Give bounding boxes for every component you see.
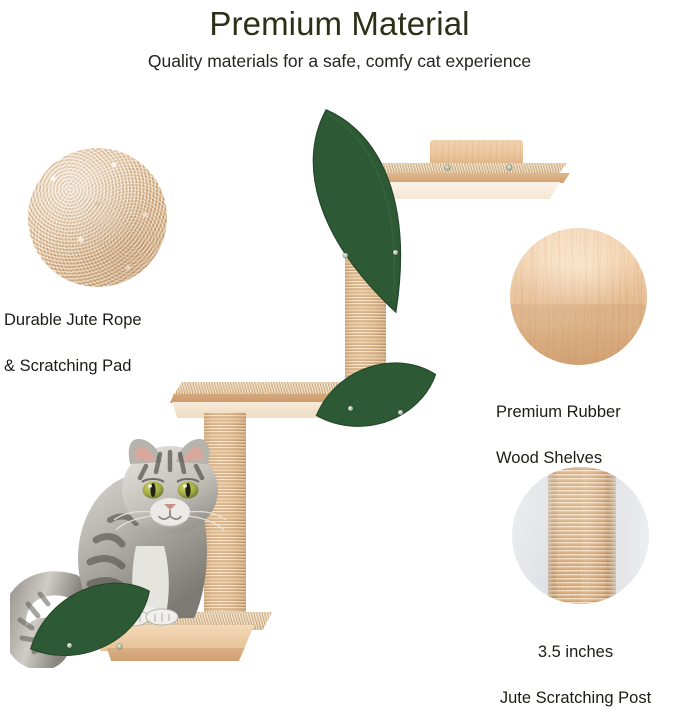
jute-post-caption: 3.5 inches Jute Scratching Post: [472, 618, 679, 721]
jute-post-caption-line-2: Jute Scratching Post: [472, 687, 679, 710]
jute-post-caption-line-1: 3.5 inches: [472, 641, 679, 664]
lower-leaf-panel: [22, 552, 158, 688]
jute-rope-swatch: [28, 148, 167, 287]
rubber-wood-caption-line-1: Premium Rubber: [496, 401, 679, 424]
middle-leaf-screw-2: [398, 410, 403, 415]
jute-rope-caption-line-1: Durable Jute Rope: [4, 309, 234, 332]
product-alt-text: Silver tabby cat sitting on a wooden cat…: [0, 0, 1, 1]
jute-swatch-gloss: [28, 148, 167, 287]
top-shelf-screw-right: [507, 165, 512, 170]
middle-leaf-svg: [312, 330, 440, 460]
upper-leaf-screw-1: [343, 253, 348, 258]
top-shelf-backboard: [430, 140, 523, 164]
rubber-wood-swatch: [510, 228, 647, 365]
middle-leaf-screw-1: [348, 406, 353, 411]
wood-swatch-gloss: [510, 228, 647, 365]
middle-leaf-panel: [312, 330, 440, 460]
upper-leaf-svg: [295, 100, 427, 322]
upper-leaf-panel: [295, 100, 427, 322]
jute-rope-caption-line-2: & Scratching Pad: [4, 355, 234, 378]
lower-leaf-screw-2: [117, 644, 122, 649]
jute-post-swatch: [512, 467, 649, 604]
top-shelf-screw-left: [445, 165, 450, 170]
lower-leaf-screw-1: [67, 643, 72, 648]
infographic-page: Premium Material Quality materials for a…: [0, 0, 679, 721]
upper-leaf-screw-2: [393, 250, 398, 255]
jute-rope-caption: Durable Jute Rope & Scratching Pad: [4, 286, 234, 401]
jute-post-column: [548, 467, 617, 604]
lower-leaf-svg: [22, 552, 158, 688]
